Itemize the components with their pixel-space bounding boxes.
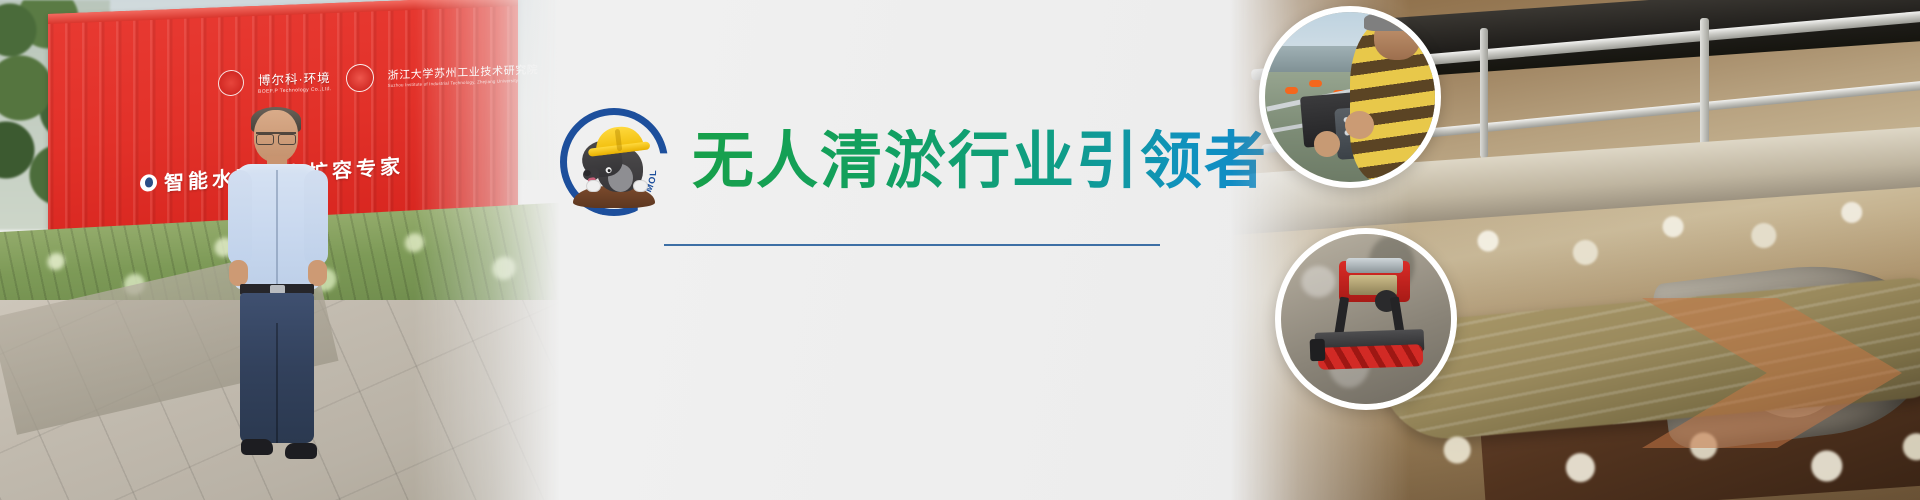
person-right-shoe	[285, 443, 317, 459]
mole-mascot-icon	[577, 124, 651, 204]
person-right-arm	[304, 170, 328, 266]
mole-eye	[605, 167, 612, 174]
operator-cap	[1364, 12, 1422, 31]
operator-console-circle-photo	[1259, 6, 1441, 188]
robot-auger-end-cap	[1310, 339, 1326, 362]
slogan-badge-icon	[140, 173, 157, 191]
person-shirt-placket	[276, 170, 278, 288]
company-hero-banner: 博尔科·环境 BOEF.P Technology Co.,Ltd. 浙江大学苏州…	[0, 0, 1920, 500]
person-right-hand	[308, 260, 327, 286]
operator-left-hand	[1314, 131, 1340, 157]
operator-right-hand	[1345, 111, 1374, 140]
university-seal-icon	[346, 63, 374, 92]
handrail-post-left	[1480, 28, 1488, 158]
center-inner: MUD MOLE	[548, 108, 1228, 246]
robot-auger-head	[1318, 344, 1424, 370]
center-headline-block: MUD MOLE	[548, 0, 1228, 500]
brand-seal-icon	[218, 69, 244, 96]
basin-float-2	[1309, 80, 1322, 87]
container-brand-block: 博尔科·环境 BOEF.P Technology Co.,Ltd.	[258, 67, 332, 95]
left-photo: 博尔科·环境 BOEF.P Technology Co.,Ltd. 浙江大学苏州…	[0, 0, 560, 500]
person-left-hand	[229, 260, 248, 286]
person-in-blue-shirt	[226, 110, 330, 465]
person-glasses-icon	[256, 132, 296, 141]
container-partner-block: 浙江大学苏州工业技术研究院 Suzhou Institute of Indust…	[388, 61, 539, 88]
container-brand-cn: 博尔科·环境	[258, 67, 332, 89]
robot-canopy	[1346, 258, 1404, 273]
person-jeans	[240, 293, 314, 443]
mole-left-paw	[586, 180, 601, 192]
headline-text: 无人清淤行业引领者	[692, 129, 1268, 194]
dredging-robot-circle-photo	[1275, 228, 1457, 410]
basin-float-1	[1285, 87, 1298, 94]
mole-right-paw	[633, 180, 648, 192]
foam-layer-lower	[1390, 418, 1920, 498]
person-left-arm	[228, 170, 252, 266]
hard-hat-icon	[594, 124, 645, 156]
container-logo-row: 博尔科·环境 BOEF.P Technology Co.,Ltd. 浙江大学苏州…	[218, 52, 518, 104]
mud-mole-logo: MUD MOLE	[560, 108, 668, 216]
person-left-shoe	[241, 439, 273, 455]
logo-and-headline-row: MUD MOLE	[548, 108, 1228, 216]
headline-divider	[664, 244, 1160, 246]
